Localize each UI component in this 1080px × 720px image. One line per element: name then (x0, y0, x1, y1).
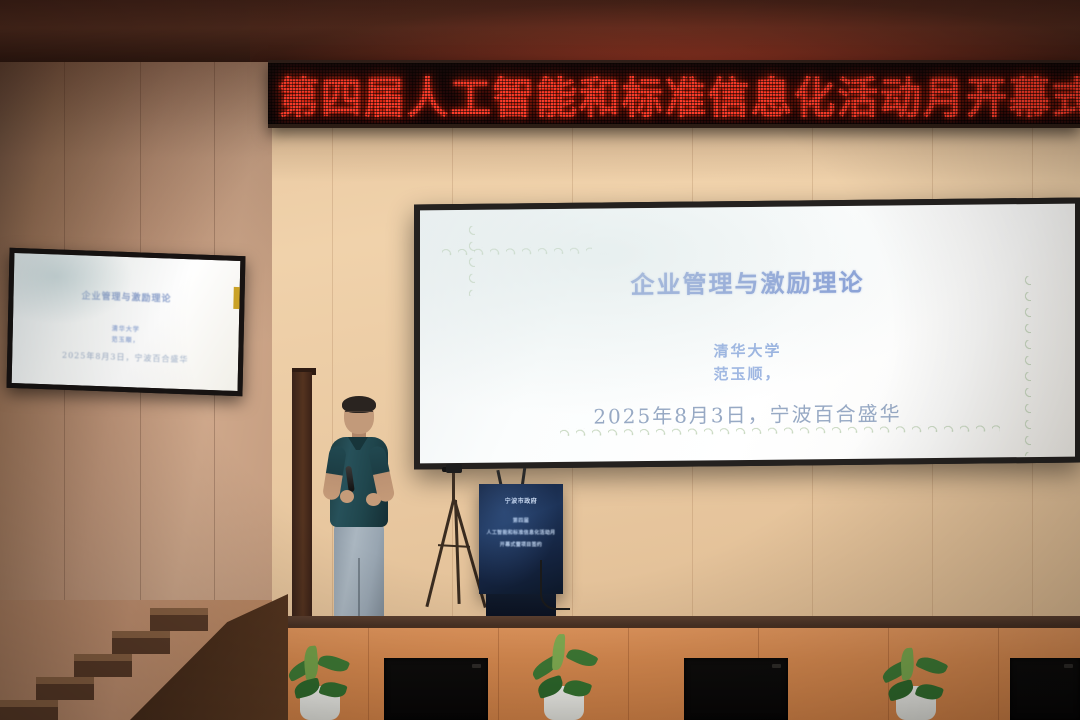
presenter (318, 398, 398, 628)
speaker-led-icon (772, 664, 781, 668)
plant-leaf (915, 653, 948, 678)
podium-line-3: 开幕式暨项目签约 (479, 541, 563, 548)
presenter-hand-left (340, 490, 354, 503)
potted-plant (880, 640, 952, 720)
stage-speaker-panel (384, 658, 488, 720)
stage-speaker-panel (1010, 658, 1080, 720)
decor-squiggle-top-horizontal (442, 247, 592, 256)
camera-body (446, 464, 462, 473)
monitor-glare (7, 248, 135, 327)
potted-plant (286, 640, 356, 720)
podium-cable (540, 560, 570, 610)
plant-leaf (552, 634, 565, 670)
led-banner: 第四届人工智能和标准信息化活动月开幕式 (268, 60, 1080, 128)
presenter-hand-right (366, 493, 381, 506)
speaker-led-icon (1064, 664, 1073, 668)
monitor-side-tab (233, 287, 241, 309)
podium-logo: 宁波市政府 (479, 496, 563, 505)
slide-title: 企业管理与激励理论 (420, 261, 1075, 303)
glasses-icon (345, 411, 373, 416)
auditorium-photo: 第四届人工智能和标准信息化活动月开幕式 企业管理与激励理论 清华大学 范玉顺， … (0, 0, 1080, 720)
plant-leaf (566, 645, 599, 671)
wall-monitor-surface: 企业管理与激励理论 清华大学 范玉顺， 2025年8月3日，宁波百合盛华 (12, 253, 241, 391)
ceiling-glow (250, 0, 1080, 62)
slide-speaker-name: 范玉顺， (420, 360, 1075, 388)
tripod-column (452, 473, 455, 503)
led-banner-text: 第四届人工智能和标准信息化活动月开幕式 (268, 62, 1080, 126)
podium-line-1: 第四届 (479, 517, 563, 524)
presenter-leg-split (358, 558, 360, 624)
potted-plant (528, 630, 600, 720)
plant-leaf (900, 648, 915, 681)
projection-screen-surface: 企业管理与激励理论 清华大学 范玉顺， 2025年8月3日，宁波百合盛华 (420, 204, 1075, 464)
wall-monitor: 企业管理与激励理论 清华大学 范玉顺， 2025年8月3日，宁波百合盛华 (7, 248, 246, 396)
stage-speaker-panel (684, 658, 788, 720)
speaker-led-icon (472, 664, 481, 668)
projection-screen: 企业管理与激励理论 清华大学 范玉顺， 2025年8月3日，宁波百合盛华 (414, 198, 1080, 470)
plant-leaf (317, 651, 350, 675)
podium-line-2: 人工智能和标准信息化活动月 (479, 529, 563, 536)
door-frame (292, 372, 312, 622)
monitor-slide-date-location: 2025年8月3日，宁波百合盛华 (12, 348, 238, 367)
